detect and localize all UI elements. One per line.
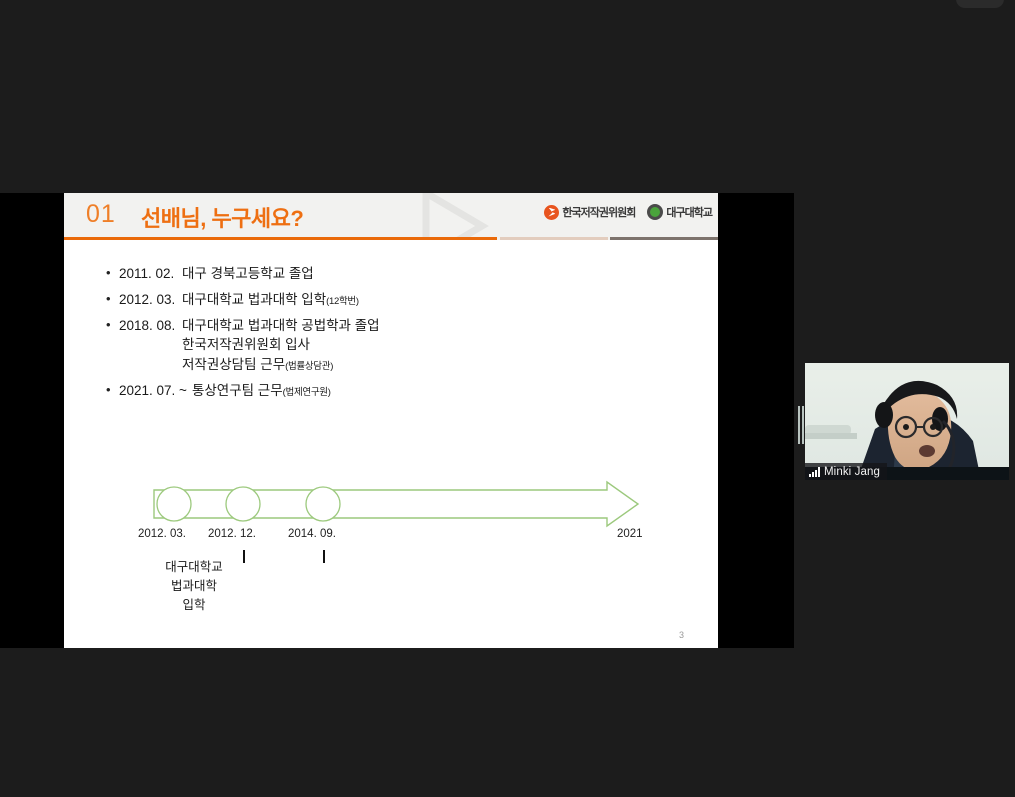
career-timeline: 2012. 03.2012. 12.2014. 09.2021 대구대학교법과대… (152, 480, 642, 590)
bullet-text: 대구대학교 법과대학 입학(12학번) (182, 290, 626, 309)
drag-handle-icon[interactable] (798, 406, 804, 444)
daegu-university-logo-label: 대구대학교 (666, 204, 712, 220)
timeline-label: 2012. 03. (138, 528, 186, 540)
bullet-marker: • (106, 264, 119, 282)
timeline-caption-line: 대구대학교 (136, 558, 252, 577)
bullet-date: 2011. 02. (119, 264, 182, 283)
window-notch (956, 0, 1004, 8)
bullet-row: •2021. 07. ~통상연구팀 근무(법제연구원) (106, 381, 626, 400)
daegu-university-logo-icon (647, 204, 663, 220)
timeline-caption-line: 법과대학 (136, 577, 252, 596)
slide-page-number: 3 (679, 630, 684, 640)
slide-title: 선배님, 누구세요? (141, 201, 303, 233)
timeline-arrow (152, 480, 642, 533)
bullet-text: 대구대학교 법과대학 공법학과 졸업한국저작권위원회 입사저작권상담팀 근무(법… (182, 316, 626, 373)
timeline-caption-line: 입학 (136, 596, 252, 615)
bullet-line: 한국저작권위원회 입사 (182, 335, 626, 354)
timeline-label: 2012. 12. (208, 528, 256, 540)
bullet-date: 2012. 03. (119, 290, 182, 309)
logo-group: 한국저작권위원회 대구대학교 (544, 204, 712, 220)
bullet-date: 2018. 08. (119, 316, 182, 335)
timeline-caption: 대구대학교법과대학입학 (136, 558, 252, 614)
bullet-note: (법제연구원) (283, 387, 331, 398)
kcc-logo-label: 한국저작권위원회 (562, 204, 635, 220)
signal-strength-icon (809, 466, 820, 477)
participant-video-tile[interactable]: Minki Jang (805, 363, 1009, 480)
bullet-note: (법률상담관) (285, 361, 333, 372)
bullet-line: 대구대학교 법과대학 공법학과 졸업 (182, 316, 626, 335)
bullet-marker: • (106, 381, 119, 399)
bullet-line: 저작권상담팀 근무(법률상담관) (182, 355, 626, 374)
kcc-logo-icon (544, 205, 559, 220)
bullet-text: 대구 경북고등학교 졸업 (182, 264, 626, 283)
shared-slide[interactable]: 01 선배님, 누구세요? 한국저작권위원회 대구대학교 •2011. 02.대… (64, 193, 718, 648)
timeline-label: 2014. 09. (288, 528, 336, 540)
bullet-line: 대구대학교 법과대학 입학(12학번) (182, 290, 626, 309)
slide-header: 01 선배님, 누구세요? 한국저작권위원회 대구대학교 (64, 193, 718, 240)
bullet-row: •2018. 08.대구대학교 법과대학 공법학과 졸업한국저작권위원회 입사저… (106, 316, 626, 373)
biography-bullet-list: •2011. 02.대구 경북고등학교 졸업•2012. 03.대구대학교 법과… (106, 264, 626, 407)
bullet-note: (12학번) (326, 296, 359, 307)
meeting-stage: 01 선배님, 누구세요? 한국저작권위원회 대구대학교 •2011. 02.대… (0, 0, 1015, 797)
participant-name-badge: Minki Jang (805, 463, 887, 480)
bullet-marker: • (106, 290, 119, 308)
participant-name: Minki Jang (824, 466, 880, 478)
bullet-text: 통상연구팀 근무(법제연구원) (192, 381, 626, 400)
daegu-university-logo: 대구대학교 (647, 204, 712, 220)
section-number: 01 (86, 200, 116, 229)
bullet-row: •2012. 03.대구대학교 법과대학 입학(12학번) (106, 290, 626, 309)
bullet-marker: • (106, 316, 119, 334)
slide-body: •2011. 02.대구 경북고등학교 졸업•2012. 03.대구대학교 법과… (64, 240, 718, 648)
kcc-logo: 한국저작권위원회 (544, 204, 635, 220)
timeline-label: 2021 (617, 528, 643, 540)
bullet-line: 통상연구팀 근무(법제연구원) (192, 381, 626, 400)
bullet-row: •2011. 02.대구 경북고등학교 졸업 (106, 264, 626, 283)
timeline-tick (323, 550, 325, 563)
bullet-date: 2021. 07. ~ (119, 381, 187, 400)
bullet-line: 대구 경북고등학교 졸업 (182, 264, 626, 283)
